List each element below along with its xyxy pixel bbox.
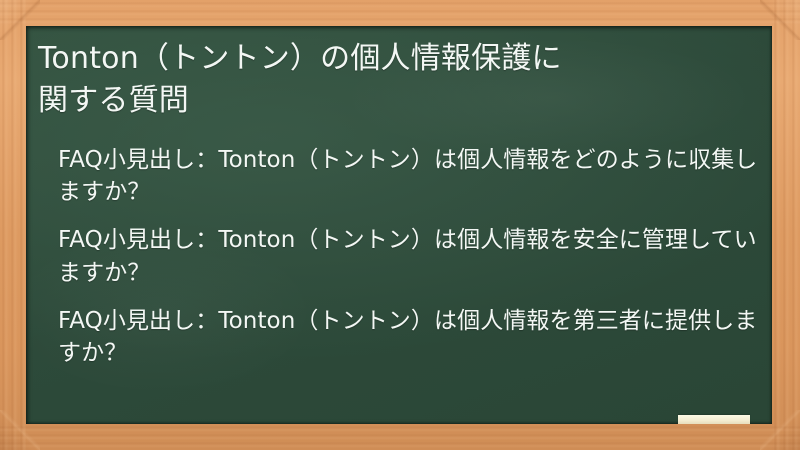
frame-left-stile xyxy=(0,0,26,450)
slide-title-line-2: 関する質問 xyxy=(38,83,189,118)
faq-list: FAQ小見出し：Tonton（トントン）は個人情報をどのように収集しますか？ F… xyxy=(26,144,772,369)
list-item: FAQ小見出し：Tonton（トントン）は個人情報を安全に管理していますか？ xyxy=(58,224,758,288)
list-item: FAQ小見出し：Tonton（トントン）は個人情報を第三者に提供しますか？ xyxy=(58,305,758,369)
frame-right-stile xyxy=(772,0,800,450)
chalkboard-surface: Tonton（トントン）の個人情報保護に関する質問 FAQ小見出し：Tonton… xyxy=(26,26,772,424)
board-content: Tonton（トントン）の個人情報保護に関する質問 FAQ小見出し：Tonton… xyxy=(26,26,772,424)
frame-top-rail xyxy=(0,0,800,26)
chalkboard-slide: Tonton（トントン）の個人情報保護に関する質問 FAQ小見出し：Tonton… xyxy=(0,0,800,450)
frame-bottom-rail xyxy=(0,424,800,450)
slide-title-line-1: Tonton（トントン）の個人情報保護に xyxy=(38,41,562,76)
chalk-stick-icon xyxy=(678,415,750,424)
list-item: FAQ小見出し：Tonton（トントン）は個人情報をどのように収集しますか？ xyxy=(58,144,758,208)
slide-title: Tonton（トントン）の個人情報保護に関する質問 xyxy=(26,38,772,122)
